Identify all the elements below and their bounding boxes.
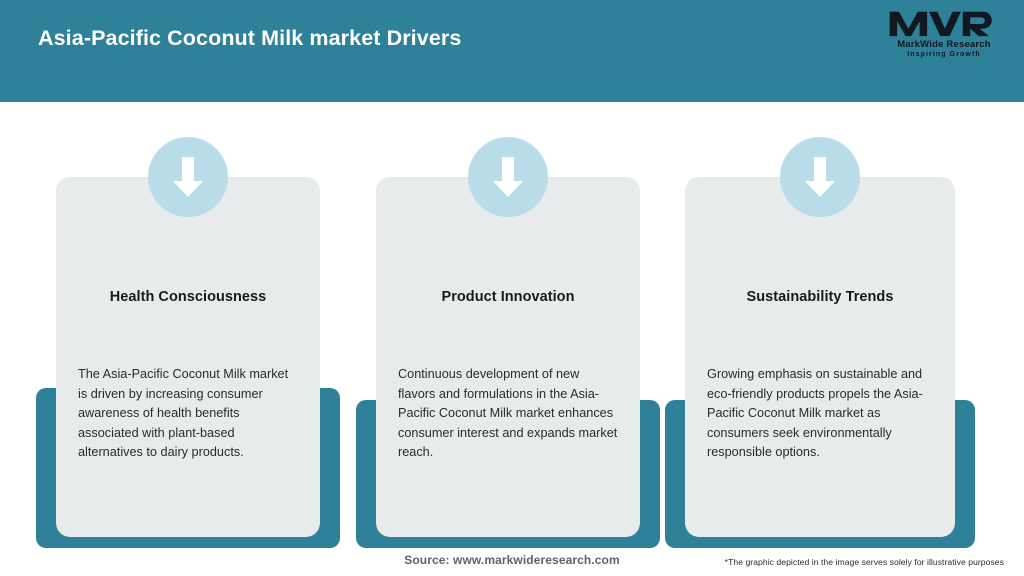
- arrow-down-icon: [780, 137, 860, 217]
- card-description: Continuous development of new flavors an…: [398, 365, 618, 463]
- card-title: Health Consciousness: [56, 289, 320, 305]
- disclaimer-note: *The graphic depicted in the image serve…: [725, 557, 1004, 567]
- card-surface: Sustainability Trends Growing emphasis o…: [685, 177, 955, 537]
- drivers-card-list: Health Consciousness The Asia-Pacific Co…: [0, 0, 1024, 576]
- card-description: Growing emphasis on sustainable and eco-…: [707, 365, 933, 463]
- card-surface: Product Innovation Continuous developmen…: [376, 177, 640, 537]
- card-surface: Health Consciousness The Asia-Pacific Co…: [56, 177, 320, 537]
- arrow-down-icon: [468, 137, 548, 217]
- card-title: Product Innovation: [376, 289, 640, 305]
- card-description: The Asia-Pacific Coconut Milk market is …: [78, 365, 298, 463]
- card-title: Sustainability Trends: [685, 289, 955, 305]
- arrow-down-icon: [148, 137, 228, 217]
